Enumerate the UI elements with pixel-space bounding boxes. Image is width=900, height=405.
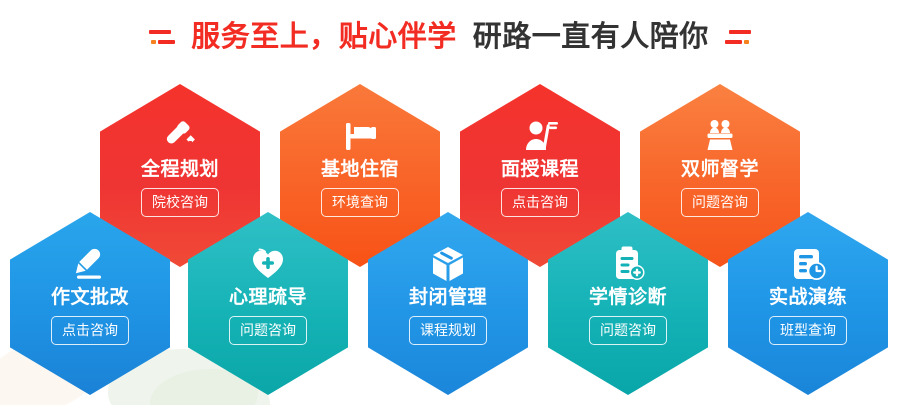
service-card-title: 封闭管理 bbox=[409, 288, 487, 307]
clipboard-plus-icon bbox=[606, 242, 650, 286]
podium-two-people-icon bbox=[698, 114, 742, 158]
heart-plus-icon bbox=[246, 242, 290, 286]
service-card-title: 作文批改 bbox=[51, 288, 129, 307]
magic-wand-icon bbox=[158, 114, 202, 158]
double-dash-icon-right bbox=[725, 26, 751, 48]
service-card-button[interactable]: 课程规划 bbox=[409, 316, 487, 345]
service-card-button[interactable]: 问题咨询 bbox=[589, 316, 667, 345]
service-card-title: 基地住宿 bbox=[321, 160, 399, 179]
service-card-button[interactable]: 问题咨询 bbox=[229, 316, 307, 345]
service-card-button[interactable]: 院校咨询 bbox=[141, 188, 219, 217]
bed-icon bbox=[338, 114, 382, 158]
headline-highlight: 服务至上，贴心伴学 bbox=[191, 23, 457, 52]
service-card-button[interactable]: 班型查询 bbox=[769, 316, 847, 345]
service-card-button[interactable]: 问题咨询 bbox=[681, 188, 759, 217]
service-card-title: 实战演练 bbox=[769, 288, 847, 307]
pencil-edit-icon bbox=[68, 242, 112, 286]
service-card-button[interactable]: 点击咨询 bbox=[51, 316, 129, 345]
document-clock-icon bbox=[786, 242, 830, 286]
service-card-title: 学情诊断 bbox=[589, 288, 667, 307]
service-card-button[interactable]: 环境查询 bbox=[321, 188, 399, 217]
service-card-title: 心理疏导 bbox=[229, 288, 307, 307]
service-card-title: 面授课程 bbox=[501, 160, 579, 179]
double-dash-icon-left bbox=[149, 26, 175, 48]
service-card-button[interactable]: 点击咨询 bbox=[501, 188, 579, 217]
service-card-title: 双师督学 bbox=[681, 160, 759, 179]
box-cube-icon bbox=[426, 242, 470, 286]
service-card-title: 全程规划 bbox=[141, 160, 219, 179]
teacher-pointer-icon bbox=[518, 114, 562, 158]
headline-rest: 研路一直有人陪你 bbox=[473, 23, 709, 52]
headline-banner: 服务至上，贴心伴学 研路一直有人陪你 bbox=[0, 14, 900, 60]
